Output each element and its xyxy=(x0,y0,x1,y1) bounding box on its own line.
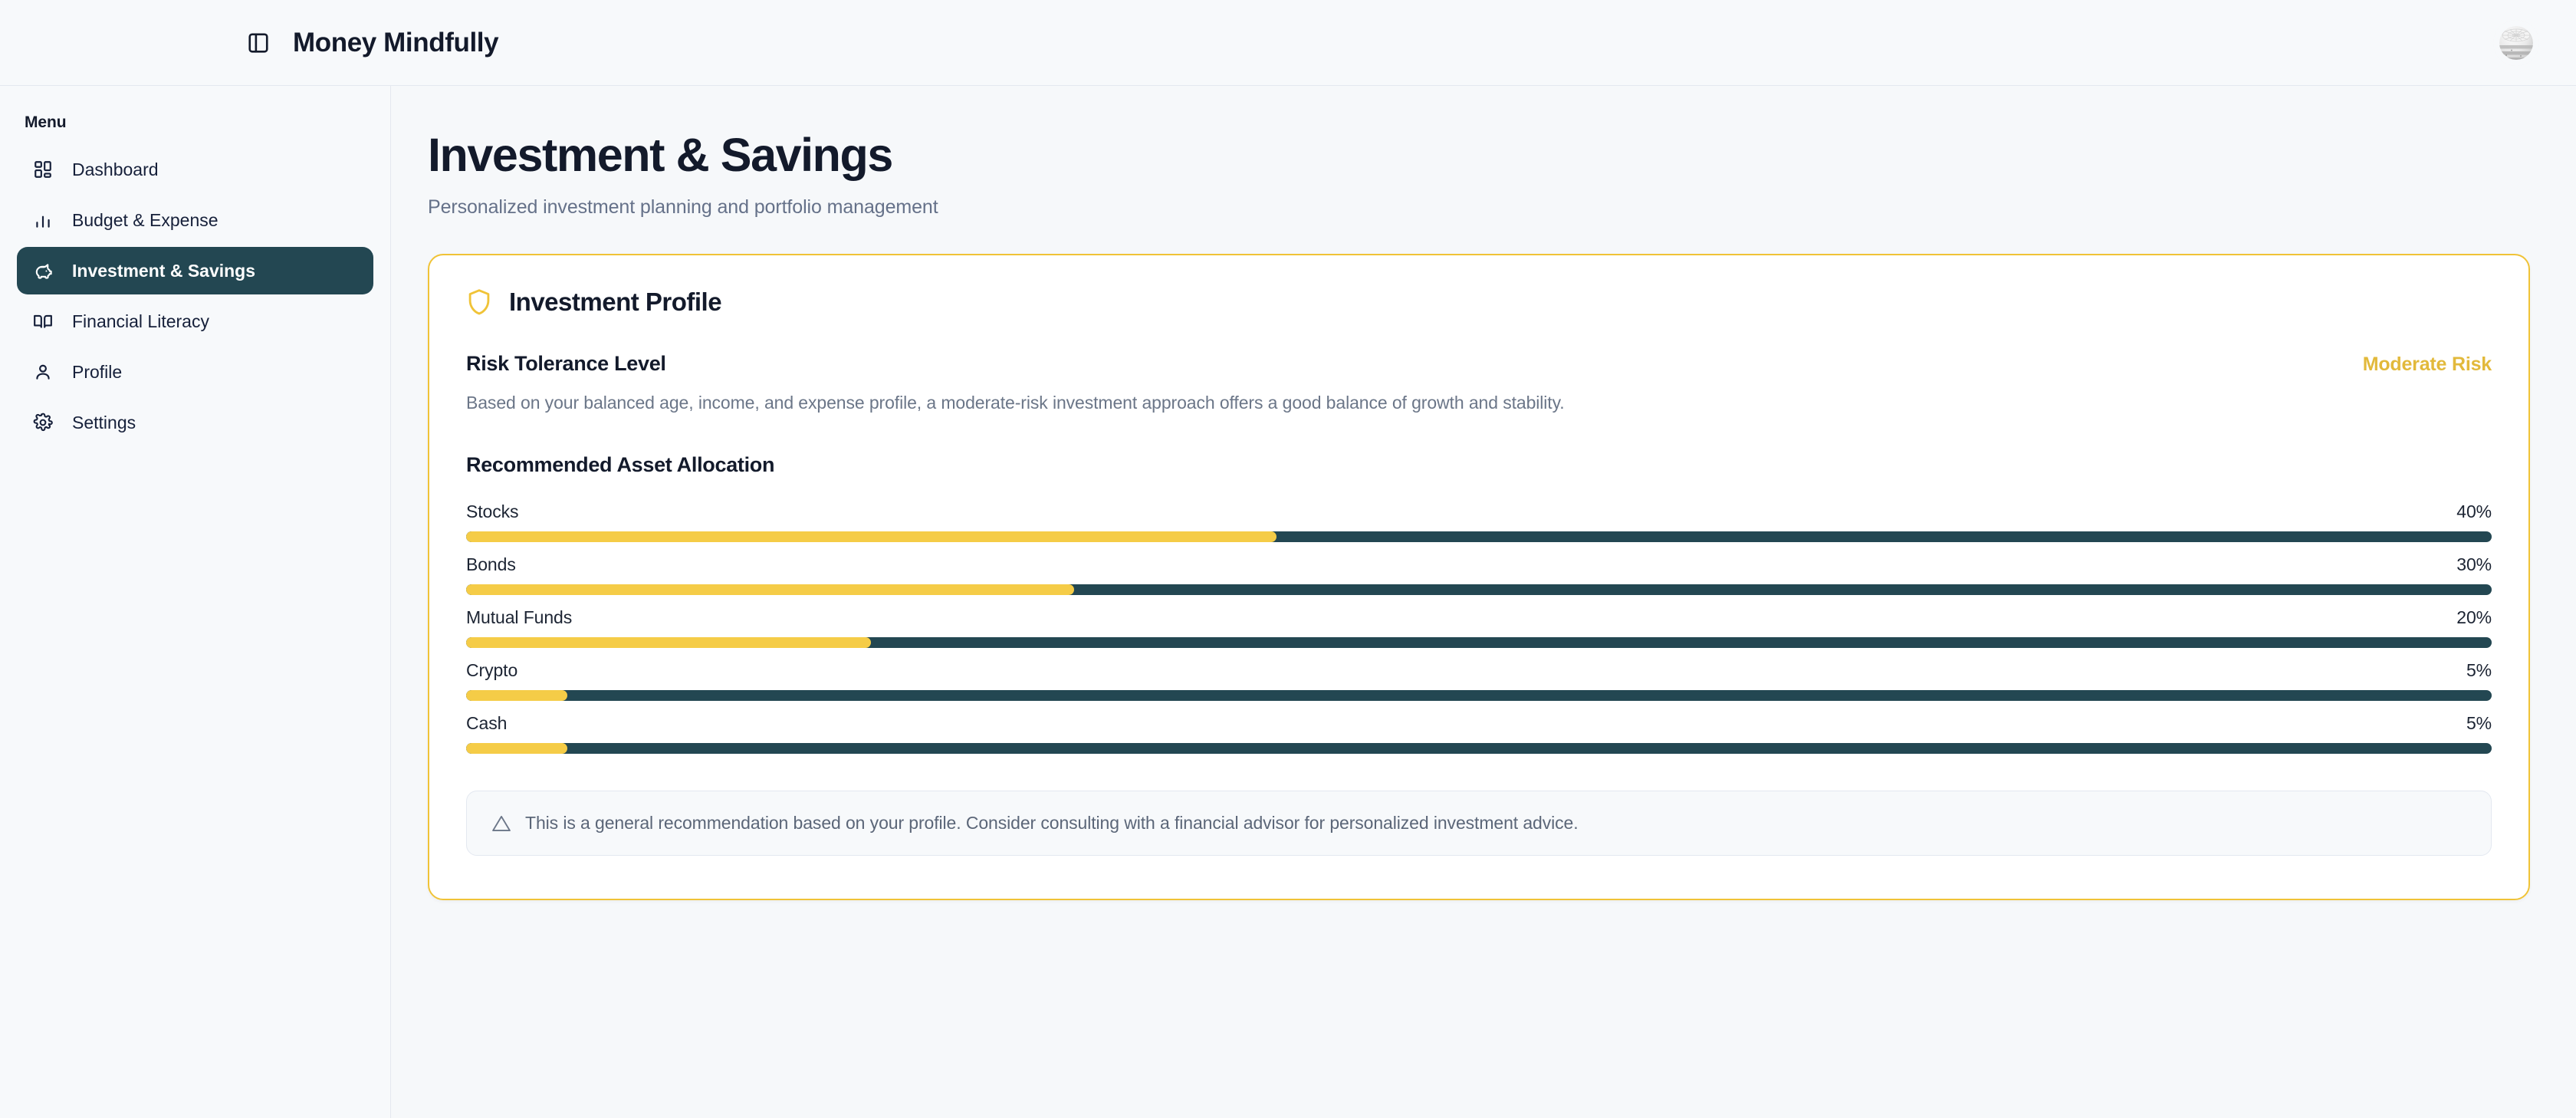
sidebar-item-investment-savings[interactable]: Investment & Savings xyxy=(17,247,373,294)
app-root: Money Mindfully xyxy=(0,0,2576,1118)
top-bar-right xyxy=(2493,20,2539,66)
grid-icon xyxy=(31,157,55,182)
allocation-progress-track[interactable] xyxy=(466,690,2492,701)
allocation-progress-fill xyxy=(466,584,1074,595)
page-title: Investment & Savings xyxy=(428,130,2530,179)
sidebar-item-label: Budget & Expense xyxy=(72,210,219,231)
sidebar-heading: Menu xyxy=(17,106,373,146)
allocation-row-header: Mutual Funds 20% xyxy=(466,607,2492,628)
gear-icon xyxy=(31,410,55,435)
allocation-percent: 20% xyxy=(2456,607,2492,628)
allocation-progress-fill xyxy=(466,531,1276,542)
allocation-label: Bonds xyxy=(466,554,516,575)
risk-tolerance-row: Risk Tolerance Level Moderate Risk xyxy=(466,352,2492,376)
disclaimer-text: This is a general recommendation based o… xyxy=(525,813,1579,834)
top-bar: Money Mindfully xyxy=(0,0,2576,86)
body-split: Menu Dashboard xyxy=(0,86,2576,1118)
allocation-row: Stocks 40% xyxy=(466,501,2492,542)
allocation-progress-track[interactable] xyxy=(466,743,2492,754)
piggy-bank-icon xyxy=(31,258,55,283)
sidebar-item-settings[interactable]: Settings xyxy=(17,399,373,446)
allocation-row-header: Bonds 30% xyxy=(466,554,2492,575)
allocation-row: Cash 5% xyxy=(466,713,2492,754)
shield-icon xyxy=(466,288,492,317)
risk-level-badge: Moderate Risk xyxy=(2363,353,2492,376)
allocation-label: Mutual Funds xyxy=(466,607,572,628)
allocation-row: Crypto 5% xyxy=(466,660,2492,701)
panel-left-icon[interactable] xyxy=(244,28,273,58)
allocation-percent: 5% xyxy=(2466,660,2492,681)
card-title: Investment Profile xyxy=(509,288,721,317)
main-content: Investment & Savings Personalized invest… xyxy=(391,86,2576,1118)
top-bar-left: Money Mindfully xyxy=(0,28,498,58)
allocation-label: Stocks xyxy=(466,501,518,522)
sidebar-item-label: Financial Literacy xyxy=(72,311,209,332)
allocation-percent: 5% xyxy=(2466,713,2492,734)
allocation-progress-fill xyxy=(466,743,567,754)
warning-triangle-icon xyxy=(491,814,511,834)
allocation-percent: 40% xyxy=(2456,501,2492,522)
allocation-progress-fill xyxy=(466,690,567,701)
allocation-progress-track[interactable] xyxy=(466,531,2492,542)
bar-chart-icon xyxy=(31,208,55,232)
investment-profile-card: Investment Profile Risk Tolerance Level … xyxy=(428,254,2530,900)
allocation-row-header: Stocks 40% xyxy=(466,501,2492,522)
asset-allocation-list: Stocks 40% Bonds 30% xyxy=(466,501,2492,754)
sidebar-item-label: Dashboard xyxy=(72,159,159,180)
sidebar-item-dashboard[interactable]: Dashboard xyxy=(17,146,373,193)
allocation-row: Mutual Funds 20% xyxy=(466,607,2492,648)
sidebar-item-label: Settings xyxy=(72,413,136,433)
page-subtitle: Personalized investment planning and por… xyxy=(428,196,2530,219)
allocation-percent: 30% xyxy=(2456,554,2492,575)
sidebar-item-label: Profile xyxy=(72,362,122,383)
avatar[interactable] xyxy=(2493,20,2539,66)
allocation-label: Cash xyxy=(466,713,507,734)
allocation-row-header: Cash 5% xyxy=(466,713,2492,734)
sidebar-item-label: Investment & Savings xyxy=(72,261,255,281)
app-title: Money Mindfully xyxy=(293,28,498,58)
sidebar-item-financial-literacy[interactable]: Financial Literacy xyxy=(17,298,373,345)
allocation-label: Crypto xyxy=(466,660,517,681)
book-open-icon xyxy=(31,309,55,334)
asset-allocation-title: Recommended Asset Allocation xyxy=(466,453,2492,477)
allocation-progress-track[interactable] xyxy=(466,637,2492,648)
risk-tolerance-title: Risk Tolerance Level xyxy=(466,352,666,376)
sidebar-item-budget-expense[interactable]: Budget & Expense xyxy=(17,196,373,244)
allocation-row-header: Crypto 5% xyxy=(466,660,2492,681)
sidebar-item-profile[interactable]: Profile xyxy=(17,348,373,396)
allocation-progress-track[interactable] xyxy=(466,584,2492,595)
sidebar: Menu Dashboard xyxy=(0,86,391,1118)
disclaimer-box: This is a general recommendation based o… xyxy=(466,791,2492,856)
allocation-progress-fill xyxy=(466,637,871,648)
sidebar-nav: Dashboard Budget & Expense xyxy=(17,146,373,446)
user-icon xyxy=(31,360,55,384)
risk-tolerance-description: Based on your balanced age, income, and … xyxy=(466,393,2492,413)
card-header: Investment Profile xyxy=(466,288,2492,317)
allocation-row: Bonds 30% xyxy=(466,554,2492,595)
